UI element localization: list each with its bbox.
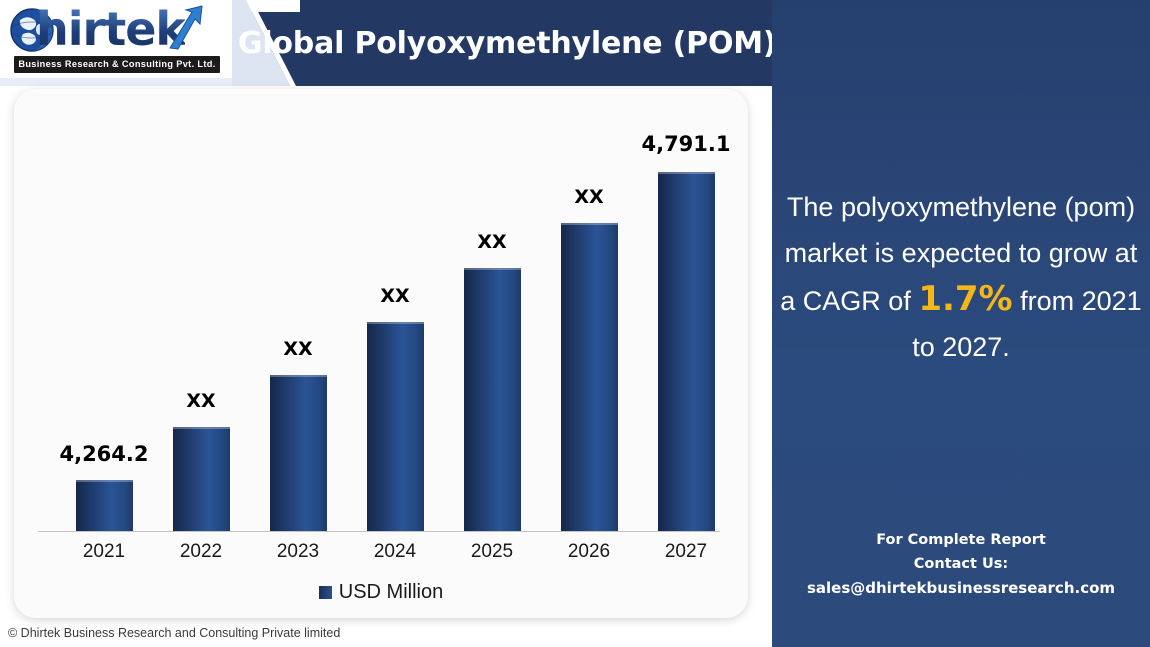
bar-value-label-2023: XX — [223, 338, 373, 360]
logo-wordmark-row: hirtek — [8, 4, 224, 56]
legend-swatch-icon — [319, 586, 332, 599]
bar-value-label-2024: XX — [320, 285, 470, 307]
bar-cap — [658, 172, 715, 174]
bar-cap — [561, 223, 618, 225]
bar-cap — [76, 480, 133, 482]
cagr-value: 1.7% — [918, 279, 1012, 319]
contact-line-2: Contact Us: — [780, 552, 1142, 576]
bar-value-label-2021: 4,264.2 — [29, 442, 179, 466]
growth-arrow-icon — [166, 4, 206, 50]
bar-2026[interactable] — [561, 223, 618, 531]
bar-2023[interactable] — [270, 375, 327, 531]
bar-2024[interactable] — [367, 322, 424, 531]
copyright-text: © Dhirtek Business Research and Consulti… — [8, 626, 340, 640]
bar-2027[interactable] — [658, 172, 715, 531]
bar-cap — [464, 268, 521, 270]
bar-2021[interactable] — [76, 480, 133, 531]
logo-tagline: Business Research & Consulting Pvt. Ltd. — [14, 56, 220, 73]
summary-panel: The polyoxymethylene (pom) market is exp… — [772, 0, 1150, 647]
company-logo: hirtek Business Research & Consulting Pv… — [8, 4, 224, 76]
legend-label-usd-million: USD Million — [339, 581, 443, 604]
chart-card: 4,264.2 XX XX XX XX XX 4,791.1 2021 2022… — [14, 89, 748, 618]
x-axis-line — [38, 531, 720, 532]
x-tick-2027: 2027 — [626, 541, 746, 563]
bar-chart: 4,264.2 XX XX XX XX XX 4,791.1 2021 2022… — [14, 89, 748, 618]
bar-2025[interactable] — [464, 268, 521, 531]
contact-line-1: For Complete Report — [780, 528, 1142, 552]
logo-wordmark: hirtek — [36, 3, 185, 55]
bar-value-label-2026: XX — [514, 186, 664, 208]
bar-value-label-2025: XX — [417, 231, 567, 253]
infographic-root: hirtek Business Research & Consulting Pv… — [0, 0, 1150, 647]
bar-cap — [173, 427, 230, 429]
market-statement: The polyoxymethylene (pom) market is exp… — [780, 184, 1142, 370]
bar-cap — [270, 375, 327, 377]
contact-block: For Complete Report Contact Us: sales@dh… — [780, 528, 1142, 600]
bar-cap — [367, 322, 424, 324]
chart-legend: USD Million — [14, 581, 748, 604]
bar-value-label-2022: XX — [126, 390, 276, 412]
bar-2022[interactable] — [173, 427, 230, 531]
bar-value-label-2027: 4,791.1 — [611, 132, 761, 156]
contact-email[interactable]: sales@dhirtekbusinessresearch.com — [780, 576, 1142, 600]
